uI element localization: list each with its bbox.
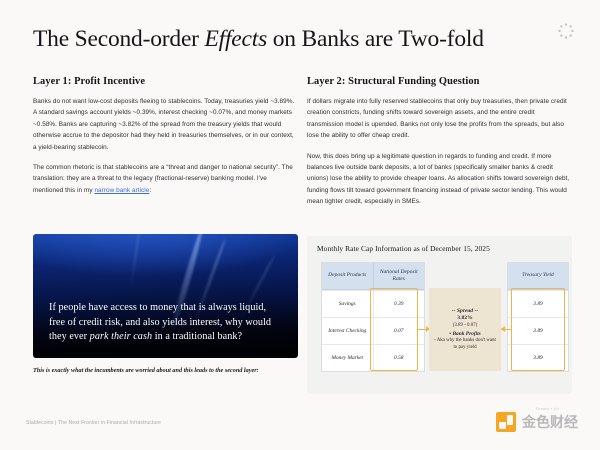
slide-root: The Second-order Effects on Banks are Tw…: [0, 0, 600, 450]
left-paragraph-2: The common rhetoric is that stablecoins …: [33, 162, 298, 196]
table-row: 3.89: [508, 317, 568, 344]
quote-text: If people have access to money that is a…: [49, 301, 284, 345]
right-column-heading: Layer 2: Structural Funding Question: [307, 76, 572, 87]
arrow-left-icon: [501, 326, 505, 332]
table-row: 3.89: [508, 344, 568, 371]
cell-product: Interest Checking: [322, 317, 373, 344]
left-column-heading: Layer 1: Profit Incentive: [33, 76, 298, 87]
left-column: Layer 1: Profit Incentive Banks do not w…: [33, 76, 298, 196]
left-paragraph-1: Banks do not want low-cost deposits flee…: [33, 96, 298, 153]
quote-image-card: If people have access to money that is a…: [33, 234, 298, 358]
footer-source-text: Stablecoins | The Next Frontier in Finan…: [26, 420, 161, 426]
quote-text-emphasis: park their cash: [90, 331, 152, 342]
spread-formula: (3.89 - 0.07): [453, 323, 477, 330]
cell-rate: 0.39: [373, 290, 425, 317]
headline-post: on Banks are Two-fold: [267, 26, 484, 52]
jinse-logo-mark-icon: [496, 412, 516, 432]
spread-value: 3.82%: [457, 315, 472, 323]
cell-rate: 0.58: [373, 344, 425, 371]
publisher-name-cn: 金色财经: [522, 415, 578, 431]
publisher-logo: 金色财经 Dream • Jin: [496, 412, 578, 432]
image-caption: This is exactly what the incumbents are …: [33, 366, 298, 376]
table-row: Savings 0.39: [322, 290, 424, 317]
figure-title: Monthly Rate Cap Information as of Decem…: [317, 244, 562, 253]
bank-profits-note: - Aka why the banks don't want to pay yi…: [434, 338, 496, 351]
treasury-yield-table: Treasury Yield 3.89 3.89 3.89: [507, 262, 569, 372]
right-column: Layer 2: Structural Funding Question If …: [307, 76, 572, 208]
page-title: The Second-order Effects on Banks are Tw…: [33, 26, 573, 54]
cell-yield: 3.89: [508, 344, 568, 371]
cell-yield: 3.89: [508, 290, 568, 317]
table-row: Money Market 0.58: [322, 344, 424, 371]
deposit-rates-table: Deposit Products National Deposit Rates …: [321, 262, 425, 372]
right-paragraph-2: Now, this does bring up a legitimate que…: [307, 151, 572, 208]
light-streak-decoration: [129, 234, 140, 291]
spread-title: -- Spread --: [452, 308, 478, 316]
cell-product: Money Market: [322, 344, 373, 371]
spread-callout-box: -- Spread -- 3.82% (3.89 - 0.07) • Bank …: [429, 288, 501, 371]
headline-pre: The Second-order: [33, 26, 204, 52]
figure-body: Deposit Products National Deposit Rates …: [317, 260, 562, 386]
column-header-treasury-yield: Treasury Yield: [508, 263, 568, 290]
column-header-deposit-products: Deposit Products: [322, 263, 373, 290]
column-header-national-deposit-rates: National Deposit Rates: [373, 263, 425, 290]
table-row: Interest Checking 0.07: [322, 317, 424, 344]
table-row: 3.89: [508, 290, 568, 317]
publisher-name-sub: Dream • Jin: [536, 407, 559, 411]
left-paragraph-2-pre: The common rhetoric is that stablecoins …: [33, 164, 293, 194]
right-paragraph-1: If dollars migrate into fully reserved s…: [307, 96, 572, 142]
table-header-row: Deposit Products National Deposit Rates: [322, 263, 424, 290]
narrow-bank-article-link[interactable]: narrow bank article: [94, 187, 149, 194]
rate-cap-figure: Monthly Rate Cap Information as of Decem…: [307, 236, 572, 394]
bank-profits-label: • Bank Profits: [449, 331, 481, 338]
cell-product: Savings: [322, 290, 373, 317]
cell-yield: 3.89: [508, 317, 568, 344]
table-header-row: Treasury Yield: [508, 263, 568, 290]
publisher-name: 金色财经 Dream • Jin: [522, 412, 578, 432]
quote-text-post: in a traditional bank?: [152, 331, 242, 342]
headline-emphasis: Effects: [204, 26, 267, 52]
left-paragraph-2-post: :: [149, 187, 151, 194]
cell-rate: 0.07: [373, 317, 425, 344]
